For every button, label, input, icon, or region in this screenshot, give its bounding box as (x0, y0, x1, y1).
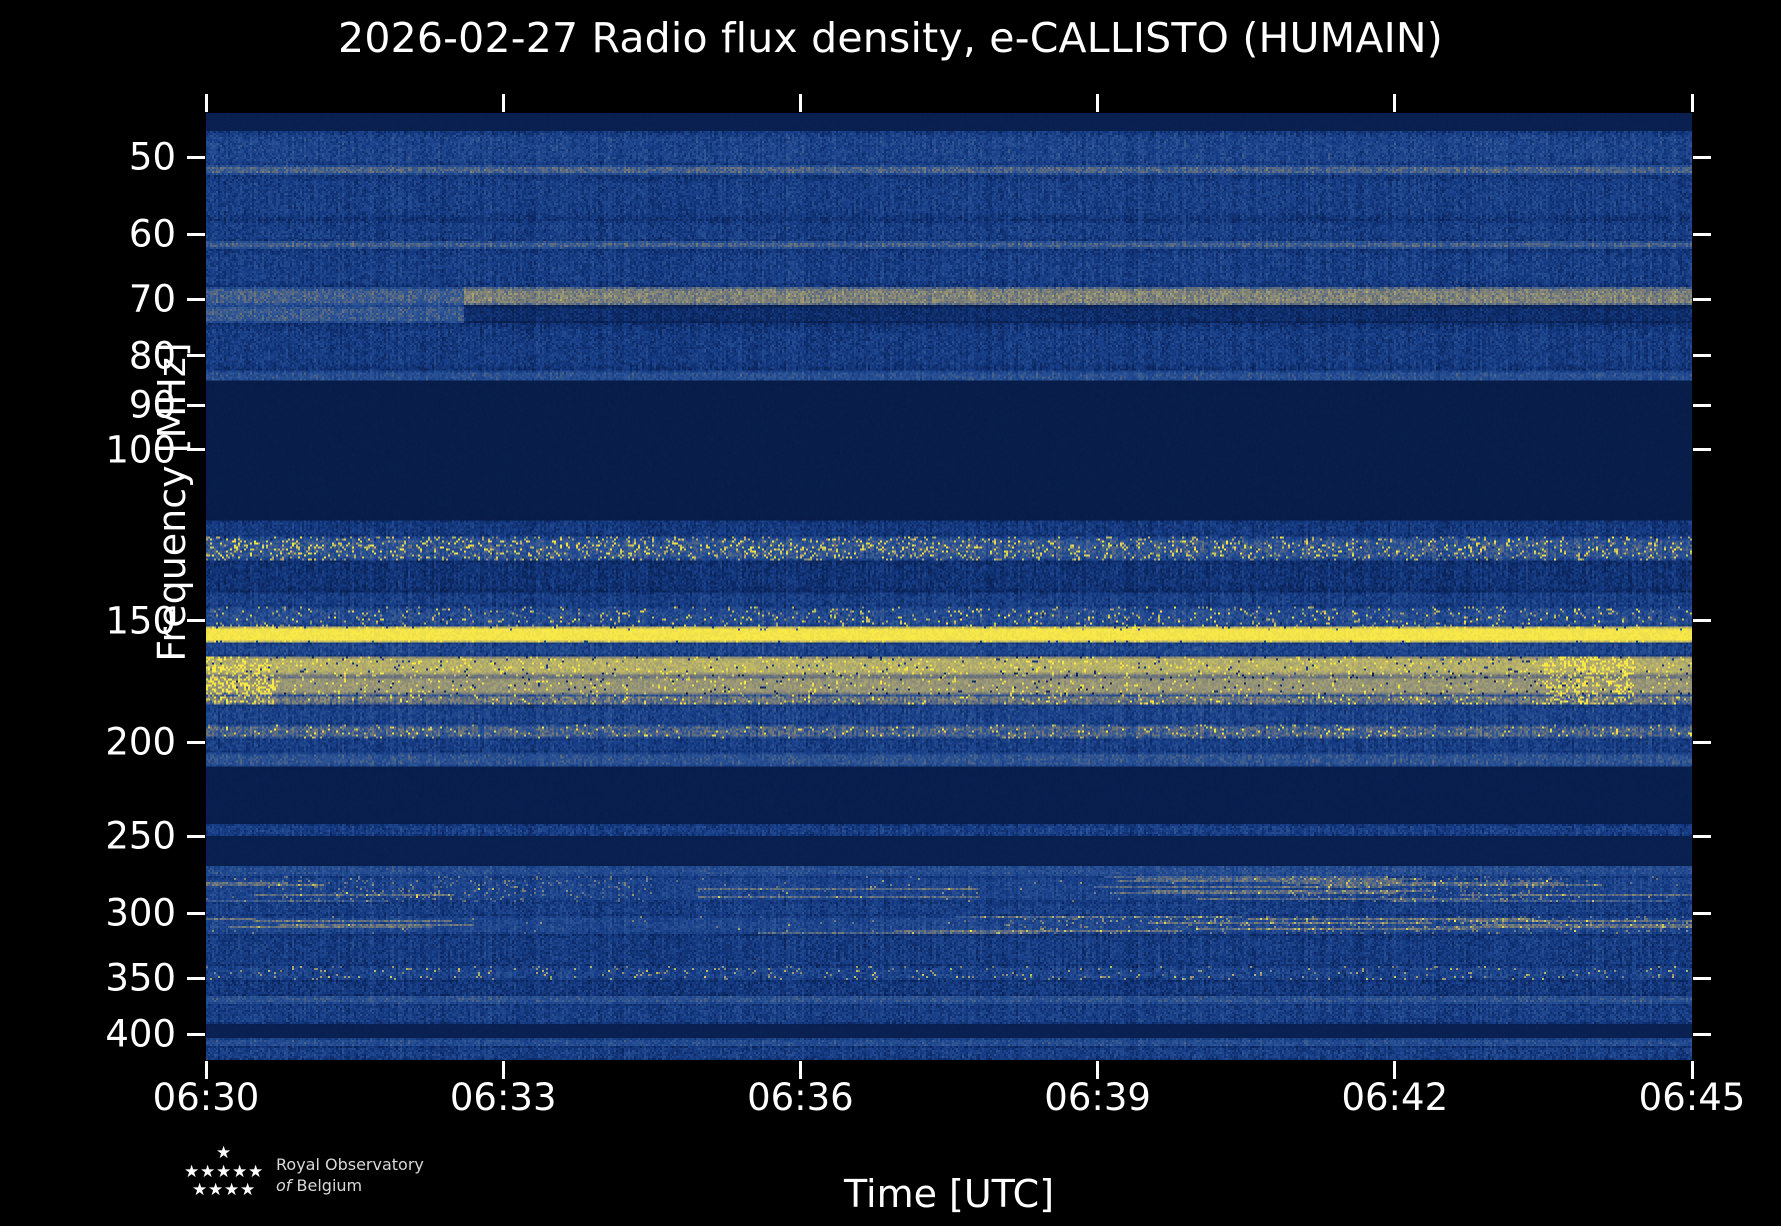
y-tick-label: 80 (0, 334, 176, 377)
spectrogram-plot-area (206, 113, 1692, 1060)
logo-stars: ★★★★★★★★★★ (178, 1145, 298, 1205)
x-tick-label: 06:30 (153, 1076, 260, 1119)
x-tick-mark-top (799, 94, 802, 112)
y-tick-label: 60 (0, 213, 176, 256)
star-icon: ★ (192, 1182, 207, 1199)
star-icon: ★ (224, 1182, 239, 1199)
y-tick-mark (187, 619, 205, 622)
logo-line-1: Royal Observatory (276, 1155, 424, 1174)
y-tick-mark (187, 298, 205, 301)
y-tick-mark (187, 448, 205, 451)
y-tick-mark-right (1693, 912, 1711, 915)
logo-line-2: of Belgium (276, 1176, 362, 1195)
page-title: 2026-02-27 Radio flux density, e-CALLIST… (0, 14, 1781, 62)
star-icon: ★ (232, 1164, 247, 1181)
star-icon: ★ (248, 1164, 263, 1181)
y-tick-mark-right (1693, 156, 1711, 159)
x-tick-mark-top (1691, 94, 1694, 112)
y-tick-mark-right (1693, 404, 1711, 407)
y-tick-label: 300 (0, 892, 176, 935)
y-tick-label: 350 (0, 957, 176, 1000)
y-tick-label: 250 (0, 815, 176, 858)
star-icon: ★ (216, 1164, 231, 1181)
y-tick-mark-right (1693, 1033, 1711, 1036)
x-tick-label: 06:36 (747, 1076, 854, 1119)
logo-line-2-italic: of (276, 1176, 291, 1195)
y-tick-mark (187, 835, 205, 838)
y-tick-label: 150 (0, 599, 176, 642)
y-tick-mark-right (1693, 354, 1711, 357)
y-tick-label: 200 (0, 721, 176, 764)
y-tick-label: 50 (0, 136, 176, 179)
star-icon: ★ (208, 1182, 223, 1199)
y-tick-mark-right (1693, 835, 1711, 838)
y-tick-mark (187, 1033, 205, 1036)
y-tick-label: 100 (0, 428, 176, 471)
y-tick-mark (187, 404, 205, 407)
x-tick-label: 06:33 (450, 1076, 557, 1119)
y-tick-mark (187, 233, 205, 236)
x-tick-label: 06:42 (1341, 1076, 1448, 1119)
y-tick-label: 400 (0, 1013, 176, 1056)
star-icon: ★ (184, 1164, 199, 1181)
spectrogram-canvas (206, 113, 1692, 1060)
star-icon: ★ (240, 1182, 255, 1199)
x-tick-mark-top (1096, 94, 1099, 112)
y-tick-mark (187, 156, 205, 159)
y-tick-mark-right (1693, 977, 1711, 980)
star-icon: ★ (216, 1145, 231, 1162)
y-tick-mark-right (1693, 741, 1711, 744)
x-tick-mark-top (205, 94, 208, 112)
y-tick-mark-right (1693, 298, 1711, 301)
logo-line-2-rest: Belgium (297, 1176, 363, 1195)
y-tick-mark-right (1693, 619, 1711, 622)
x-tick-label: 06:39 (1044, 1076, 1151, 1119)
x-tick-mark-top (1393, 94, 1396, 112)
y-tick-label: 70 (0, 278, 176, 321)
spectrogram-figure: 2026-02-27 Radio flux density, e-CALLIST… (0, 0, 1781, 1226)
y-tick-mark (187, 741, 205, 744)
y-tick-mark (187, 912, 205, 915)
royal-observatory-logo: ★★★★★★★★★★ Royal Observatory of Belgium (178, 1145, 508, 1211)
x-tick-label: 06:45 (1639, 1076, 1746, 1119)
star-icon: ★ (200, 1164, 215, 1181)
y-tick-label: 90 (0, 384, 176, 427)
y-tick-mark (187, 354, 205, 357)
y-tick-mark-right (1693, 233, 1711, 236)
y-tick-mark (187, 977, 205, 980)
y-tick-mark-right (1693, 448, 1711, 451)
x-tick-mark-top (502, 94, 505, 112)
